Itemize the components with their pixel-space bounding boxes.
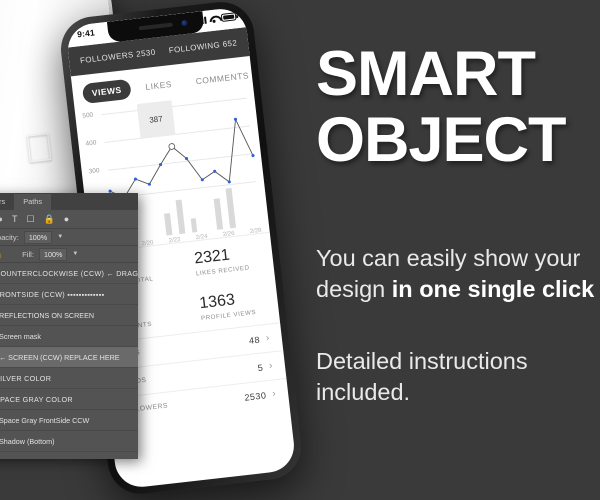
apple-logo-icon:  <box>21 128 58 169</box>
shape-icon[interactable]: ☐ <box>26 215 34 224</box>
layer-name: Space Gray FrontSide CCW <box>0 416 89 425</box>
title-line-2: OBJECT <box>316 110 600 172</box>
promo-line-3: Detailed instructions <box>316 348 528 374</box>
list-item-value-wrap: 5 › <box>257 360 274 373</box>
status-time: 9:41 <box>77 27 96 39</box>
list-item-value-wrap: 48 › <box>248 333 270 346</box>
list-item-value-wrap: 2530 › <box>244 388 277 403</box>
y-tick-500: 500 <box>82 112 94 120</box>
layer-row-space-gray-frontside-ccw[interactable]: Space Gray FrontSide CCW <box>0 410 138 431</box>
layer-name: SPACE GRAY COLOR <box>0 395 73 404</box>
fill-row: ◈ 🔒 Fill: 100% ▼ <box>0 246 138 263</box>
blend-mode-row: ▼ Opacity: 100% ▼ <box>0 229 138 246</box>
layer-row-counterclockwise[interactable]: COUNTERCLOCKWISE (CCW) ← DRAG HERE <box>0 263 138 284</box>
layer-row-screen-replace-here[interactable]: ← SCREEN (CCW) REPLACE HERE <box>0 347 138 368</box>
toggle-icon[interactable]: ● <box>64 215 69 224</box>
chart-bar <box>154 236 160 237</box>
layer-name: ← SCREEN (CCW) REPLACE HERE <box>0 353 120 362</box>
dual-camera-module <box>0 24 1 98</box>
chevron-right-icon: › <box>265 333 270 344</box>
panel-icon-row: ▣ ◑ T ☐ 🔒 ● <box>0 210 138 229</box>
opacity-label: Opacity: <box>0 233 19 242</box>
battery-icon <box>221 12 237 22</box>
chart-bar <box>214 199 223 230</box>
lock-icon[interactable]: 🔒 <box>0 250 3 259</box>
promo-line-2-normal: design <box>316 276 392 302</box>
following-count[interactable]: FOLLOWING 652 <box>168 38 237 55</box>
chevron-right-icon: › <box>272 388 277 399</box>
x-tick-label <box>187 236 189 242</box>
layer-row-frontside[interactable]: FRONTSIDE (CCW) ▪▪▪▪▪▪▪▪▪▪▪▪▪ <box>0 284 138 305</box>
panel-tab-bar: Layers Paths <box>0 193 138 210</box>
layer-name: REFLECTIONS ON SCREEN <box>0 311 94 320</box>
list-item-value: 2530 <box>244 390 267 402</box>
y-tick-300: 300 <box>88 167 100 175</box>
promo-line-2-bold: in one single click <box>392 276 594 302</box>
layer-name: COUNTERCLOCKWISE (CCW) ← DRAG HERE <box>0 269 138 278</box>
opacity-input[interactable]: 100% <box>24 231 52 244</box>
chart-point <box>234 118 237 121</box>
fill-chevron-down-icon[interactable]: ▼ <box>72 251 78 257</box>
wifi-icon <box>209 14 219 23</box>
chart-bar <box>141 238 147 239</box>
fill-label: Fill: <box>22 250 34 259</box>
layer-name: Screen mask <box>0 332 41 341</box>
layer-row-screen-mask[interactable]: Screen mask <box>0 326 138 347</box>
promo-body-block: You can easily show your design in one s… <box>316 243 600 408</box>
chart-bar <box>190 218 197 232</box>
list-item-value: 5 <box>257 362 264 373</box>
chart-bar <box>255 225 261 226</box>
y-tick-400: 400 <box>85 139 97 147</box>
layer-row-space-gray-color[interactable]: SPACE GRAY COLOR <box>0 389 138 410</box>
promo-line-1: You can easily show your <box>316 245 580 271</box>
chart-bar <box>205 231 211 232</box>
page-title: SMART OBJECT <box>316 44 600 171</box>
earpiece-speaker-icon <box>139 23 173 31</box>
x-tick-label <box>160 239 162 245</box>
chart-point <box>148 183 151 186</box>
layer-row-reflections-on-screen[interactable]: REFLECTIONS ON SCREEN <box>0 305 138 326</box>
tab-likes[interactable]: LIKES <box>135 73 182 98</box>
layer-row-shadow-bottom[interactable]: Shadow (Bottom) <box>0 431 138 452</box>
fill-input[interactable]: 100% <box>39 248 67 261</box>
screenshot-canvas:  9:41 <box>0 0 600 500</box>
front-camera-icon <box>181 20 188 27</box>
tab-comments[interactable]: COMMENTS <box>186 64 259 92</box>
halftone-icon[interactable]: ◑ <box>0 215 3 224</box>
x-tick-label <box>241 230 243 236</box>
tab-views[interactable]: VIEWS <box>82 79 132 104</box>
followers-count[interactable]: FOLLOWERS 2530 <box>80 48 156 66</box>
panel-tab-paths[interactable]: Paths <box>14 194 51 210</box>
layer-name: Shadow (Bottom) <box>0 437 55 446</box>
promo-paragraph-1: You can easily show your design in one s… <box>316 243 600 305</box>
x-tick-label <box>214 233 216 239</box>
list-item-value: 48 <box>248 334 260 345</box>
chart-bar <box>225 188 235 228</box>
title-line-1: SMART <box>316 39 535 109</box>
layer-name: SILVER COLOR <box>0 374 51 383</box>
opacity-chevron-down-icon[interactable]: ▼ <box>57 234 63 240</box>
chart-bar <box>164 213 172 236</box>
layer-name: FRONTSIDE (CCW) ▪▪▪▪▪▪▪▪▪▪▪▪▪ <box>0 290 104 299</box>
promo-line-4: included. <box>316 379 410 405</box>
promo-paragraph-2: Detailed instructions included. <box>316 346 600 408</box>
text-icon[interactable]: T <box>12 215 18 224</box>
photoshop-layers-panel[interactable]: Layers Paths ▣ ◑ T ☐ 🔒 ● ▼ Opacity: 100%… <box>0 193 138 459</box>
chart-bar <box>175 199 185 234</box>
chart-tooltip: 387 <box>136 100 175 139</box>
layer-row-silver-color[interactable]: SILVER COLOR <box>0 368 138 389</box>
lock-icon[interactable]: 🔒 <box>44 215 55 224</box>
panel-tab-layers[interactable]: Layers <box>0 194 14 210</box>
chevron-right-icon: › <box>268 360 273 371</box>
chart-point <box>251 154 254 157</box>
promo-title-block: SMART OBJECT <box>316 44 600 171</box>
chart-bar <box>243 226 249 227</box>
chart-point-highlight <box>169 143 175 149</box>
